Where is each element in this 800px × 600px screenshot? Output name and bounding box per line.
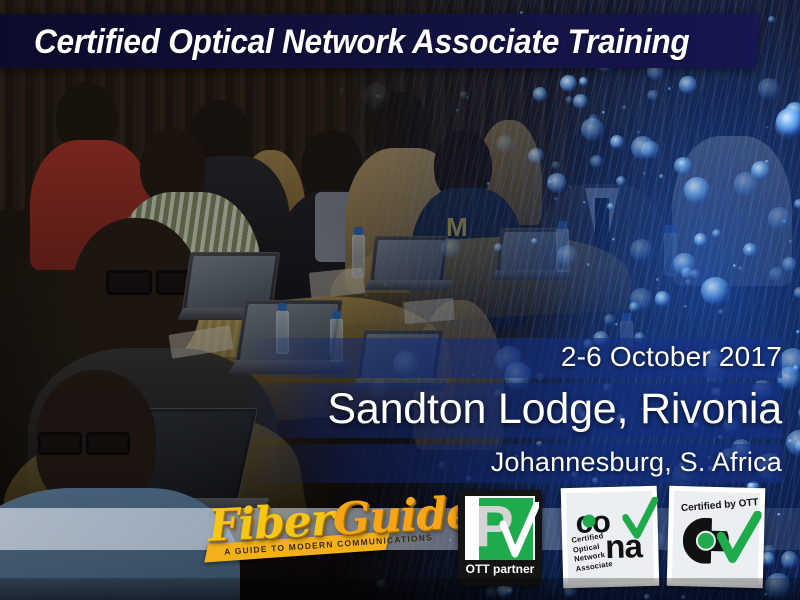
badge-cona[interactable]: co na Certified Optical Network Associat… [561,486,660,588]
event-venue: Sandton Lodge, Rivonia [327,385,782,433]
fiberguide-logo[interactable]: FiberGuide A GUIDE TO MODERN COMMUNICATI… [200,492,400,570]
event-city: Johannesburg, S. Africa [491,447,782,477]
bokeh-dot [615,323,618,326]
bokeh-dot [441,238,462,259]
bokeh-dot [364,293,368,297]
bokeh-dot [794,287,800,299]
event-city-band: Johannesburg, S. Africa [242,444,782,483]
checkmark-icon [499,502,539,562]
bokeh-dot [631,136,655,160]
cona-expanded-words: Certified Optical Network Associate [571,529,620,573]
badge-face: co na Certified Optical Network Associat… [566,491,654,583]
bokeh-dot [718,309,724,315]
bokeh-dot [647,90,659,102]
bokeh-dot [629,302,640,313]
event-date-band: 2-6 October 2017 [242,338,782,378]
bottom-shadow [0,578,800,600]
badge-pv-ott-partner[interactable]: P OTT partner [458,490,542,586]
bokeh-dot [690,269,700,279]
checkmark-icon [716,510,761,567]
bokeh-dot [579,77,587,85]
bokeh-dot [604,314,615,325]
bokeh-dot [496,135,514,153]
bokeh-dot [751,161,770,180]
bokeh-dot [776,108,800,135]
bokeh-dot [637,131,641,135]
bokeh-dot [694,233,707,246]
badge-certified-by-ott[interactable]: Certified by OTT [667,486,766,588]
checkmark-icon [622,497,659,542]
bokeh-dot [679,76,697,94]
bokeh-dot [766,126,769,129]
bokeh-dot [789,240,792,243]
bokeh-dot [747,247,753,253]
bokeh-dot [781,551,799,569]
bokeh-dot [701,277,730,306]
bokeh-dot [793,365,799,371]
event-details: 2-6 October 2017 Sandton Lodge, Rivonia … [242,338,782,483]
bokeh-dot [630,239,653,262]
bokeh-dot [779,348,800,376]
bokeh-dot [655,291,671,307]
event-date: 2-6 October 2017 [561,341,782,372]
event-venue-band: Sandton Lodge, Rivonia [242,383,782,438]
bokeh-dot [794,199,800,209]
bokeh-dot [659,174,664,179]
bokeh-dot [684,177,710,203]
page-title: Certified Optical Network Associate Trai… [34,19,704,65]
badge-face: Certified by OTT [672,491,760,583]
bokeh-dot [573,94,588,109]
bokeh-dot [487,182,491,186]
badge-label: OTT partner [458,562,542,576]
bokeh-dot [554,197,558,201]
bokeh-dot [768,207,791,230]
bokeh-dot [685,279,691,285]
bokeh-dot [583,201,586,204]
bokeh-dot [384,283,387,286]
bokeh-dot [557,245,578,266]
bokeh-dot [622,105,627,110]
bokeh-dot [610,135,624,149]
event-promo-banner: M [0,0,800,600]
badge-face: P [465,496,535,560]
bokeh-dot [560,75,577,92]
bokeh-dot [494,243,503,252]
